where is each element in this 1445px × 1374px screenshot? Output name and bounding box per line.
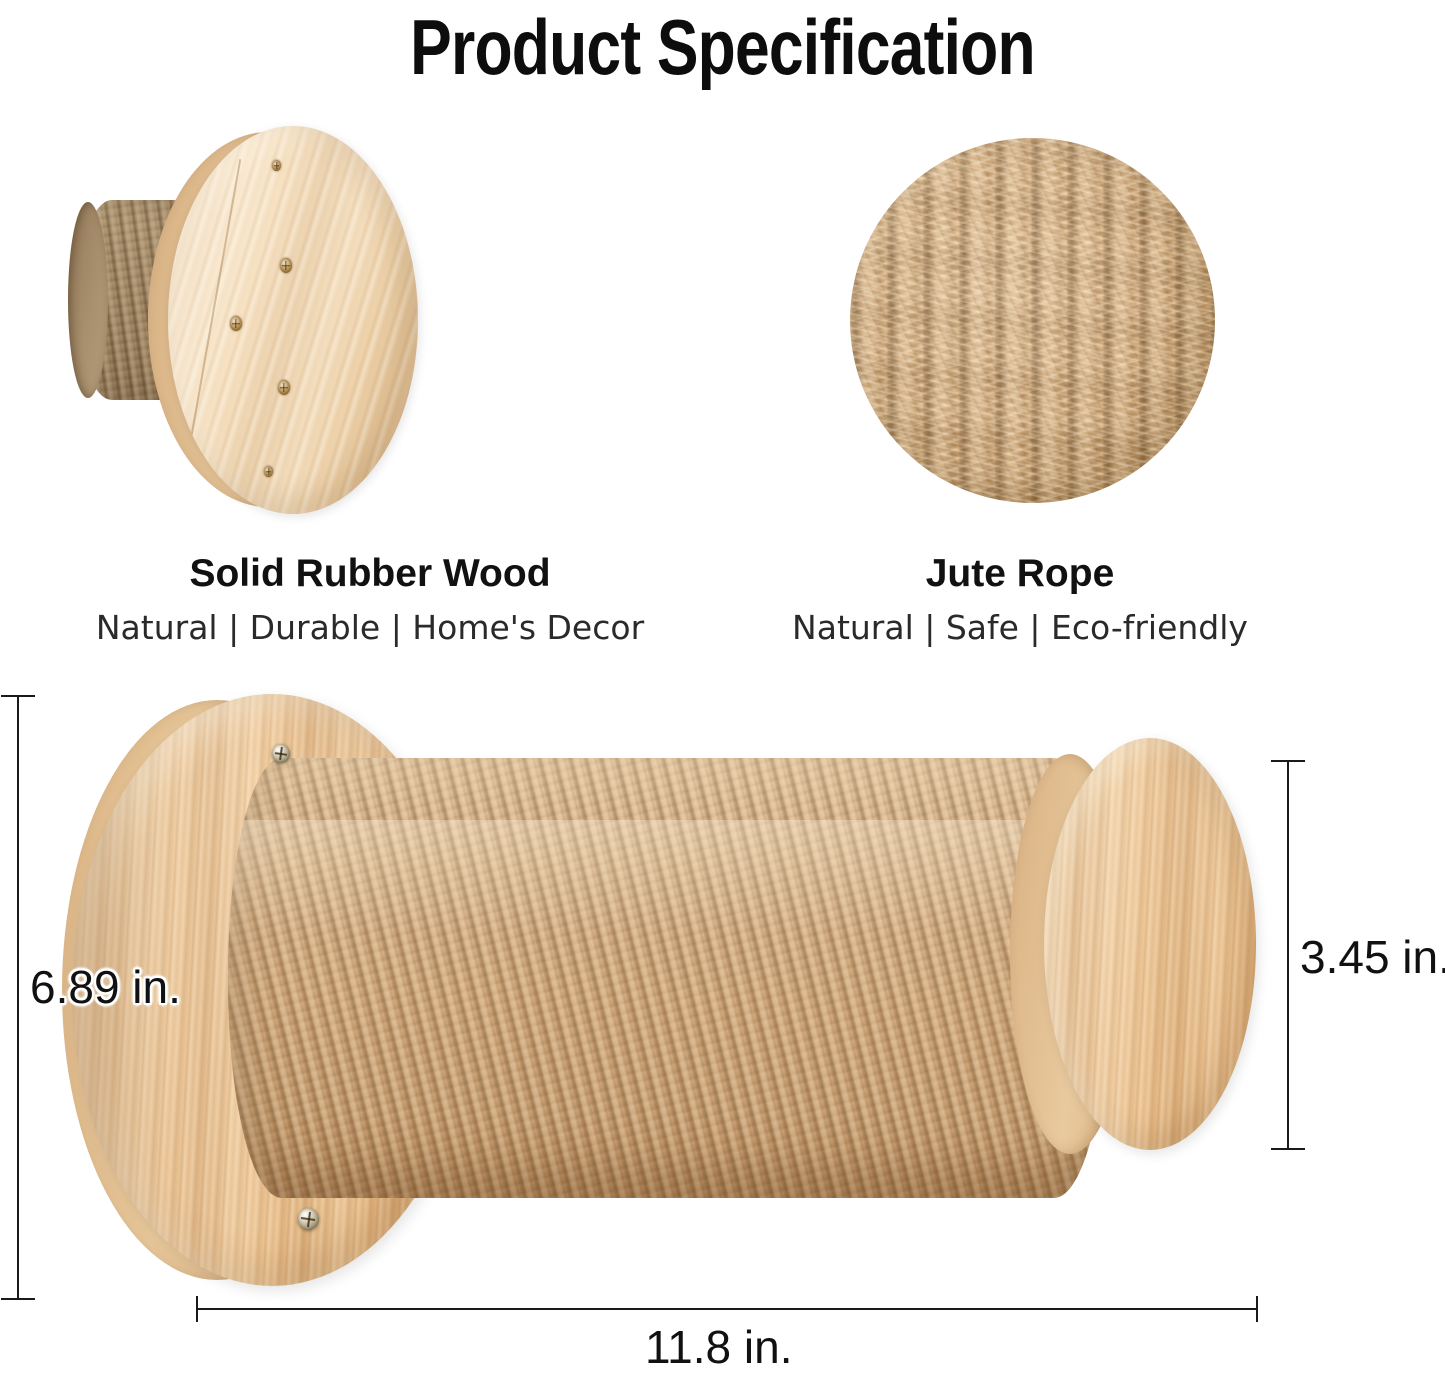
screw-icon xyxy=(298,1208,319,1230)
feature-jute-rope: Jute Rope Natural | Safe | Eco-friendly xyxy=(700,120,1340,680)
dimension-cap-top xyxy=(1271,760,1305,762)
feature-row: Solid Rubber Wood Natural | Durable | Ho… xyxy=(0,120,1445,680)
feature-subtitle-solid-rubber-wood: Natural | Durable | Home's Decor xyxy=(50,608,690,647)
dimension-cap-left xyxy=(196,1296,198,1322)
rope-post-graphic xyxy=(228,758,1108,1198)
screw-icon xyxy=(272,744,290,763)
feature-title-solid-rubber-wood: Solid Rubber Wood xyxy=(50,552,690,596)
screw-icon xyxy=(280,258,292,273)
dimension-line xyxy=(17,695,19,1300)
end-cap-graphic xyxy=(1044,738,1256,1150)
wood-grain-line xyxy=(187,159,241,457)
page-title: Product Specification xyxy=(145,2,1301,93)
feature-title-jute-rope: Jute Rope xyxy=(700,552,1340,596)
dimension-line xyxy=(196,1308,1258,1310)
wood-plate-graphic xyxy=(168,126,418,514)
feature-solid-rubber-wood: Solid Rubber Wood Natural | Durable | Ho… xyxy=(50,120,690,680)
dimension-label-diameter: 3.45 in. xyxy=(1300,930,1445,984)
rope-end-graphic xyxy=(68,202,108,398)
jute-rope-macro-photo xyxy=(700,120,1340,540)
dimension-cap-bottom xyxy=(1,1298,35,1300)
screw-icon xyxy=(278,380,290,395)
dimension-cap-bottom xyxy=(1271,1148,1305,1150)
screw-icon xyxy=(264,466,273,477)
dimension-label-height: 6.89 in. xyxy=(30,960,181,1014)
dimension-cap-top xyxy=(1,695,35,697)
feature-subtitle-jute-rope: Natural | Safe | Eco-friendly xyxy=(700,608,1340,647)
screw-icon xyxy=(230,316,242,331)
dimension-line xyxy=(1287,760,1289,1150)
screw-icon xyxy=(272,160,281,171)
wood-mounting-plate-photo xyxy=(50,120,690,540)
dimension-label-length: 11.8 in. xyxy=(645,1320,792,1374)
rope-fiber-texture xyxy=(850,138,1215,503)
dimension-cap-right xyxy=(1256,1296,1258,1322)
rope-closeup-circle-graphic xyxy=(850,138,1215,503)
rope-highlight xyxy=(228,820,1108,934)
main-product-figure: 6.89 in. 3.45 in. 11.8 in. xyxy=(0,680,1445,1359)
